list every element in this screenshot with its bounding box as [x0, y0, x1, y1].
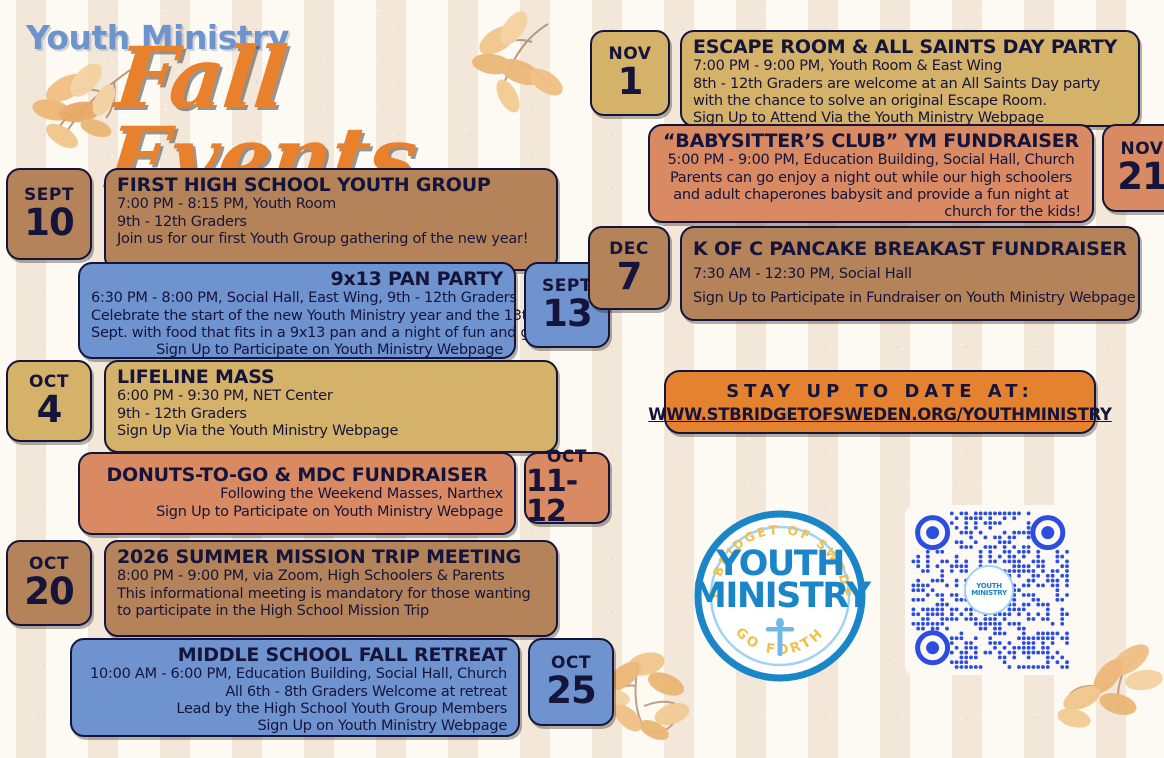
event-line: church for the kids!	[661, 204, 1081, 221]
event-row-oct-4: OCT 4 LIFELINE MASS 6:00 PM - 9:30 PM, N…	[6, 360, 558, 453]
event-row-sept-13: 9x13 PAN PARTY 6:30 PM - 8:00 PM, Social…	[78, 262, 610, 359]
event-row-nov-21: “BABYSITTER’S CLUB” YM FUNDRAISER 5:00 P…	[648, 124, 1164, 223]
event-line: to participate in the High School Missio…	[117, 603, 545, 620]
logo-line-2: MINISTRY	[692, 576, 868, 616]
event-card: MIDDLE SCHOOL FALL RETREAT 10:00 AM - 6:…	[70, 638, 520, 737]
date-badge: DEC 7	[588, 226, 670, 310]
event-row-oct-20: OCT 20 2026 SUMMER MISSION TRIP MEETING …	[6, 540, 558, 637]
event-title: 9x13 PAN PARTY	[91, 269, 503, 290]
date-badge: OCT 20	[6, 540, 92, 626]
date-badge: NOV 21	[1102, 124, 1164, 212]
event-line: Celebrate the start of the new Youth Min…	[91, 308, 503, 325]
event-line: with the chance to solve an original Esc…	[693, 93, 1127, 110]
date-badge: OCT 25	[528, 638, 614, 726]
event-card: K OF C PANCAKE BREAKAST FUNDRAISER 7:30 …	[680, 226, 1140, 321]
event-title: K OF C PANCAKE BREAKAST FUNDRAISER	[693, 239, 1127, 260]
poster-header: Youth Ministry Fall Events	[0, 0, 588, 152]
date-badge-day: 11-12	[526, 467, 608, 527]
leaf-decoration-bottom-right	[1058, 622, 1164, 754]
event-line: Lead by the High School Youth Group Memb…	[83, 701, 507, 718]
event-card: ESCAPE ROOM & ALL SAINTS DAY PARTY 7:00 …	[680, 30, 1140, 127]
stay-up-to-date-label: STAY UP TO DATE AT:	[726, 381, 1034, 402]
youth-ministry-logo: ST. BRIDGET OF SWEDEN GO FORTH YOUTH MIN…	[692, 508, 868, 684]
date-badge-day: 21	[1117, 158, 1164, 195]
event-line: 9th - 12th Graders	[117, 214, 545, 231]
event-line: Sign Up to Participate on Youth Ministry…	[91, 342, 503, 359]
date-badge: NOV 1	[590, 30, 670, 116]
date-badge-day: 13	[542, 295, 592, 332]
event-row-nov-1: NOV 1 ESCAPE ROOM & ALL SAINTS DAY PARTY…	[590, 30, 1140, 127]
date-badge-day: 4	[37, 391, 62, 428]
event-line: and adult chaperones babysit and provide…	[661, 187, 1081, 204]
poster-canvas: Youth Ministry Fall Events	[0, 0, 1164, 758]
event-line: 7:00 PM - 8:15 PM, Youth Room	[117, 196, 545, 213]
event-card: “BABYSITTER’S CLUB” YM FUNDRAISER 5:00 P…	[648, 124, 1094, 223]
date-badge-day: 25	[546, 672, 596, 709]
event-line: 10:00 AM - 6:00 PM, Education Building, …	[83, 666, 507, 683]
date-badge: OCT 4	[6, 360, 92, 442]
event-line: Sign Up Via the Youth Ministry Webpage	[117, 423, 545, 440]
event-title: 2026 SUMMER MISSION TRIP MEETING	[117, 547, 545, 568]
event-card: 9x13 PAN PARTY 6:30 PM - 8:00 PM, Social…	[78, 262, 516, 359]
event-line: Sept. with food that fits in a 9x13 pan …	[91, 325, 503, 342]
event-title: MIDDLE SCHOOL FALL RETREAT	[83, 645, 507, 666]
event-line: 8th - 12th Graders are welcome at an All…	[693, 76, 1127, 93]
event-title: ESCAPE ROOM & ALL SAINTS DAY PARTY	[693, 37, 1127, 58]
event-card: 2026 SUMMER MISSION TRIP MEETING 8:00 PM…	[104, 540, 558, 637]
event-line: 8:00 PM - 9:00 PM, via Zoom, High School…	[117, 568, 545, 585]
date-badge-day: 20	[24, 573, 74, 610]
event-card: FIRST HIGH SCHOOL YOUTH GROUP 7:00 PM - …	[104, 168, 558, 271]
event-title: “BABYSITTER’S CLUB” YM FUNDRAISER	[661, 131, 1081, 152]
stay-up-to-date-banner[interactable]: STAY UP TO DATE AT: WWW.STBRIDGETOFSWEDE…	[664, 370, 1096, 434]
event-line: Following the Weekend Masses, Narthex	[91, 486, 503, 503]
website-url-link[interactable]: WWW.STBRIDGETOFSWEDEN.ORG/YOUTHMINISTRY	[648, 405, 1111, 424]
event-row-oct-11-12: DONUTS-TO-GO & MDC FUNDRAISER Following …	[78, 452, 610, 535]
date-badge: OCT 11-12	[524, 452, 610, 524]
event-line: Join us for our first Youth Group gather…	[117, 231, 545, 248]
event-title: FIRST HIGH SCHOOL YOUTH GROUP	[117, 175, 545, 196]
event-line: Parents can go enjoy a night out while o…	[661, 170, 1081, 187]
event-row-sept-10: SEPT 10 FIRST HIGH SCHOOL YOUTH GROUP 7:…	[6, 168, 558, 271]
event-title: LIFELINE MASS	[117, 367, 545, 388]
event-row-oct-25: MIDDLE SCHOOL FALL RETREAT 10:00 AM - 6:…	[70, 638, 614, 737]
event-line: 7:30 AM - 12:30 PM, Social Hall	[693, 266, 1127, 283]
event-title: DONUTS-TO-GO & MDC FUNDRAISER	[91, 465, 503, 486]
event-line: All 6th - 8th Graders Welcome at retreat	[83, 684, 507, 701]
event-card: DONUTS-TO-GO & MDC FUNDRAISER Following …	[78, 452, 516, 535]
event-line: 9th - 12th Graders	[117, 406, 545, 423]
qr-code[interactable]: YOUTH MINISTRY	[905, 505, 1073, 675]
event-card: LIFELINE MASS 6:00 PM - 9:30 PM, NET Cen…	[104, 360, 558, 453]
event-row-dec-7: DEC 7 K OF C PANCAKE BREAKAST FUNDRAISER…	[588, 226, 1140, 321]
qr-center-line-2: MINISTRY	[971, 590, 1007, 597]
event-line: Sign Up to Participate in Fundraiser on …	[693, 290, 1127, 307]
event-line: This informational meeting is mandatory …	[117, 586, 545, 603]
event-line: 5:00 PM - 9:00 PM, Education Building, S…	[661, 152, 1081, 169]
date-badge-day: 7	[617, 258, 642, 295]
date-badge-day: 10	[24, 204, 74, 241]
event-line: Sign Up to Participate on Youth Ministry…	[91, 504, 503, 521]
event-line: 6:00 PM - 9:30 PM, NET Center	[117, 388, 545, 405]
event-line: 7:00 PM - 9:00 PM, Youth Room & East Win…	[693, 58, 1127, 75]
event-line: Sign Up on Youth Ministry Webpage	[83, 718, 507, 735]
event-line: 6:30 PM - 8:00 PM, Social Hall, East Win…	[91, 290, 503, 307]
qr-center-logo: YOUTH MINISTRY	[964, 565, 1014, 615]
date-badge: SEPT 10	[6, 168, 92, 260]
date-badge-day: 1	[618, 63, 643, 100]
